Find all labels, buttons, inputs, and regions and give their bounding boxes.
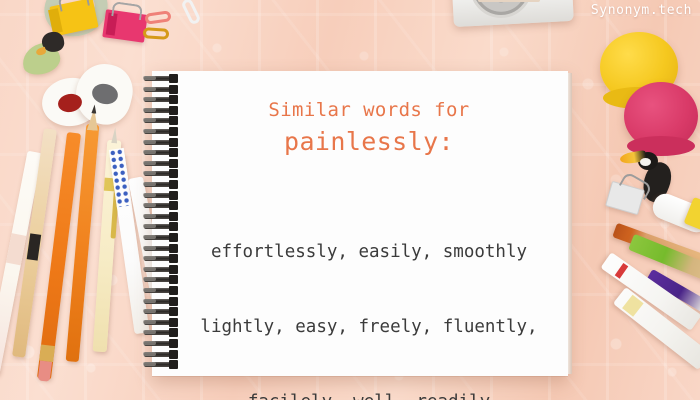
spiral-coil	[144, 118, 178, 123]
spiral-coil	[144, 267, 178, 272]
synonym-line: facilely, well, readily	[200, 390, 537, 400]
notepad-content: Similar words for painlessly: effortless…	[152, 71, 568, 376]
camera-grip-strip	[478, 0, 540, 2]
spiral-coil	[144, 362, 178, 367]
spiral-coil	[144, 76, 178, 81]
spiral-coil	[144, 140, 178, 145]
spiral-coil	[144, 277, 178, 282]
spiral-coil	[144, 299, 178, 304]
pencil-ferrule	[39, 344, 55, 362]
page-title-word: painlessly:	[284, 127, 454, 156]
spiral-coil	[144, 246, 178, 251]
spiral-coil	[144, 256, 178, 261]
pencil-dark-band	[27, 233, 42, 260]
spiral-coil	[144, 193, 178, 198]
spiral-coil	[144, 352, 178, 357]
synonym-line: lightly, easy, freely, fluently,	[200, 315, 537, 340]
spiral-coil	[144, 97, 178, 102]
spiral-coil	[144, 203, 178, 208]
spiral-coil	[144, 129, 178, 134]
site-watermark: Synonym.tech	[591, 3, 692, 18]
spiral-coil	[144, 341, 178, 346]
synonym-list: effortlessly, easily, smoothly lightly, …	[200, 190, 537, 400]
spiral-coil	[144, 320, 178, 325]
spiral-coil	[144, 150, 178, 155]
screenshot-stage: Similar words for painlessly: effortless…	[0, 0, 700, 400]
spiral-coil	[144, 224, 178, 229]
toucan-chest-icon	[640, 158, 651, 166]
synonym-line: effortlessly, easily, smoothly	[200, 240, 537, 265]
page-title-line1: Similar words for	[268, 99, 469, 121]
spiral-coil	[144, 87, 178, 92]
spiral-coil	[144, 309, 178, 314]
spiral-coil	[144, 108, 178, 113]
spiral-coil	[144, 288, 178, 293]
paper-clip-gold	[143, 27, 170, 40]
spiral-coil	[144, 214, 178, 219]
spiral-coil	[144, 182, 178, 187]
spiral-binding	[144, 76, 180, 372]
notepad: Similar words for painlessly: effortless…	[152, 71, 568, 376]
spiral-coil	[144, 171, 178, 176]
binder-clip-pink	[102, 9, 147, 43]
spiral-coil	[144, 161, 178, 166]
pencil-eraser-tip	[38, 360, 52, 381]
macaron-pink	[624, 82, 698, 150]
spiral-coil	[144, 330, 178, 335]
spiral-coil	[144, 235, 178, 240]
